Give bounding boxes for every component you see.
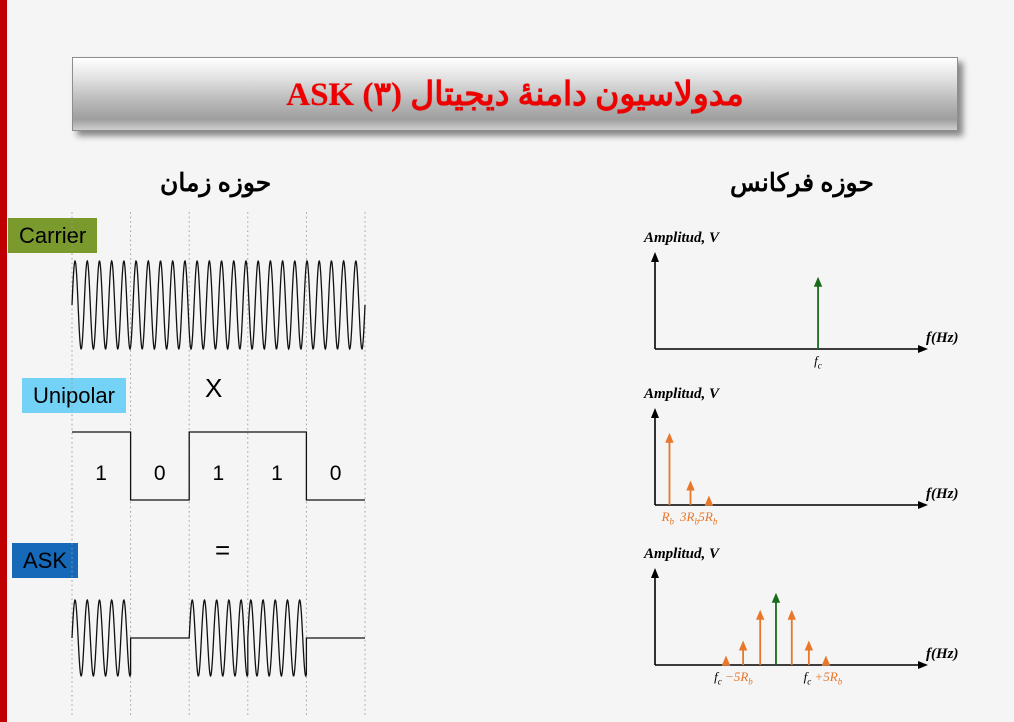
ask-waveform <box>72 600 365 676</box>
spectral-line-arrowhead <box>705 495 713 505</box>
bit-digit: 0 <box>154 462 166 486</box>
axis-tick-label: fc <box>814 353 822 371</box>
spectral-line-arrowhead <box>772 593 780 603</box>
axis-tick-label: 5Rb <box>698 509 717 527</box>
axis-tick-label: fc −5Rb <box>714 669 753 687</box>
time-domain-heading: حوزه زمان <box>160 168 271 198</box>
spectral-line-arrowhead <box>805 640 813 650</box>
chart1-axes <box>651 252 928 353</box>
chart1-svg <box>640 244 940 384</box>
spectral-line-arrowhead <box>814 277 822 287</box>
chart3-bars <box>722 593 830 666</box>
spectral-line-arrowhead <box>822 655 830 665</box>
spectral-line-arrowhead <box>788 610 796 620</box>
spectral-line-arrowhead <box>665 433 673 443</box>
bit-digit: 1 <box>213 462 225 486</box>
axis-tick-label: fc +5Rb <box>804 669 843 687</box>
carrier-waveform <box>72 261 365 349</box>
spectral-line-arrowhead <box>686 480 694 490</box>
time-domain-svg <box>0 200 400 720</box>
slide-title-bar: مدولاسیون دامنهٔ دیجیتال ASK (۳) <box>72 57 958 131</box>
spectral-line-arrowhead <box>756 610 764 620</box>
bit-digit: 0 <box>330 462 342 486</box>
frequency-domain-heading: حوزه فرکانس <box>730 168 874 198</box>
spectral-line-arrowhead <box>722 655 730 665</box>
slide-canvas: مدولاسیون دامنهٔ دیجیتال ASK (۳) حوزه زم… <box>0 0 1014 722</box>
bit-digit: 1 <box>271 462 283 486</box>
time-domain-waveforms: 10110 <box>0 200 400 720</box>
chart2-axes <box>651 408 928 509</box>
spectral-line-arrowhead <box>739 640 747 650</box>
bit-digit: 1 <box>95 462 107 486</box>
page-title: مدولاسیون دامنهٔ دیجیتال ASK (۳) <box>286 74 744 114</box>
axis-tick-label: Rb <box>662 509 674 527</box>
chart1-bars <box>814 277 822 349</box>
chart2-bars <box>665 433 713 506</box>
chart3-svg <box>640 560 940 700</box>
axis-tick-label: 3Rb <box>680 509 699 527</box>
